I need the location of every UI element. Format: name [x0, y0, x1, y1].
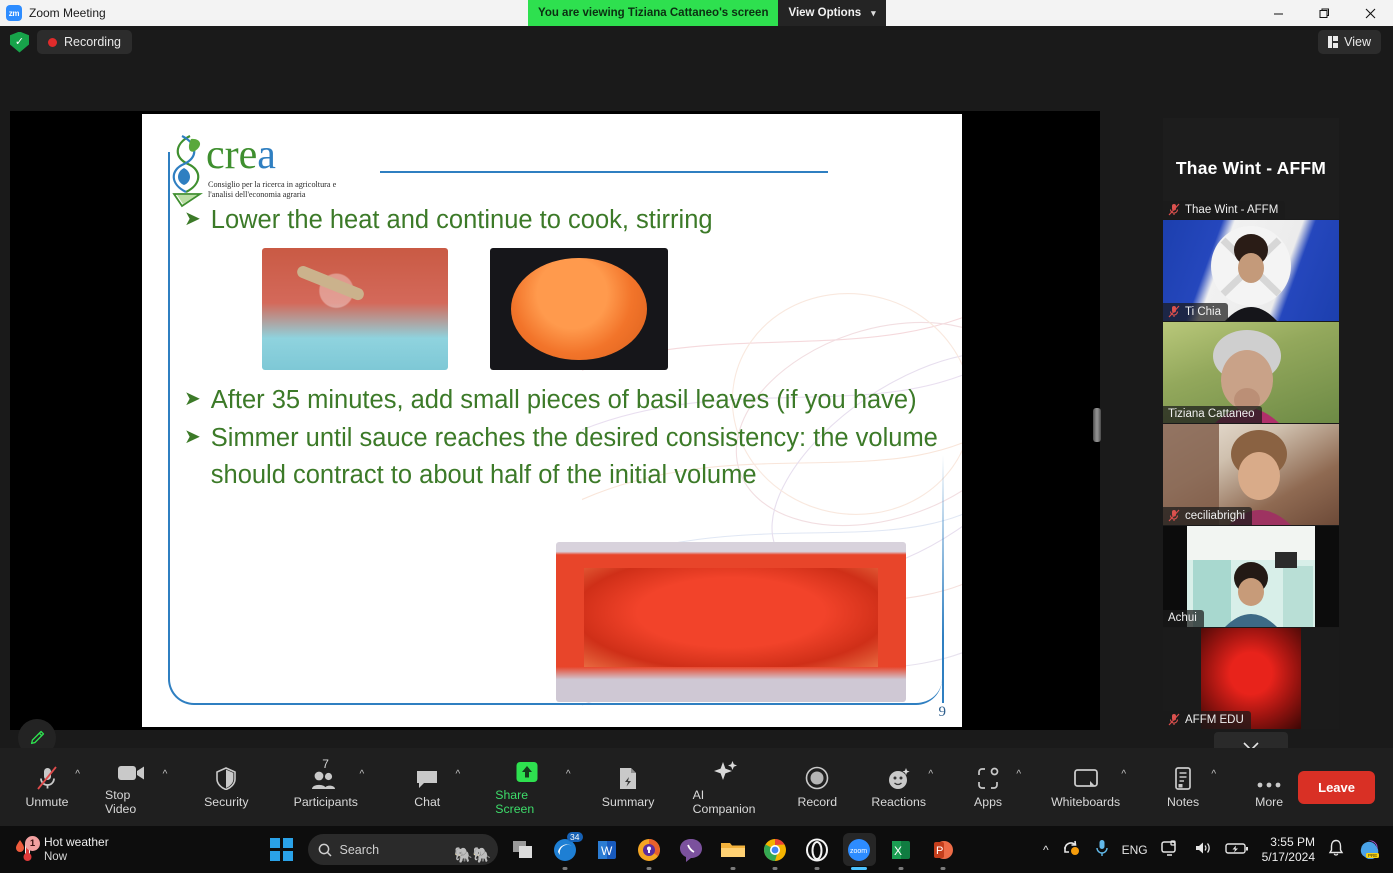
smiley-icon	[887, 766, 911, 790]
sync-status-icon[interactable]	[1062, 839, 1082, 860]
running-indicator	[647, 867, 652, 870]
security-button[interactable]: Security	[197, 757, 255, 817]
green-shield-check-icon[interactable]: ✓	[10, 32, 29, 53]
record-button[interactable]: Record	[788, 757, 846, 817]
security-label: Security	[204, 795, 248, 809]
participant-name-bar: Thae Wint - AFFM	[1163, 201, 1285, 219]
password-manager-icon[interactable]	[633, 833, 666, 866]
reactions-button[interactable]: Reactions ^	[868, 757, 929, 817]
layout-grid-icon	[1328, 36, 1339, 48]
search-placeholder: Search	[340, 843, 380, 857]
microphone-tray-icon[interactable]	[1095, 839, 1109, 860]
chevron-up-icon[interactable]: ^	[163, 769, 168, 780]
slide-bullet-3: ➤ Simmer until sauce reaches the desired…	[184, 420, 944, 492]
crea-subtitle: Consiglio per la ricerca in agricoltura …	[208, 180, 343, 201]
slide-bullet-1: ➤ Lower the heat and continue to cook, s…	[184, 202, 944, 238]
window-title: Zoom Meeting	[29, 6, 106, 20]
video-camera-icon	[117, 759, 145, 783]
chat-bubble-icon	[415, 766, 439, 790]
slide-image-row	[262, 248, 944, 370]
summary-button[interactable]: Summary	[599, 757, 658, 817]
microphone-muted-icon	[1168, 713, 1180, 726]
leave-button[interactable]: Leave	[1298, 771, 1375, 804]
share-resize-handle[interactable]	[1093, 408, 1101, 442]
svg-text:X: X	[894, 844, 902, 858]
participant-name-bar: Ti Chia	[1163, 303, 1228, 321]
bullet-text: Lower the heat and continue to cook, sti…	[211, 202, 944, 238]
bullet-text: Simmer until sauce reaches the desired c…	[211, 420, 944, 492]
notification-badge: 34	[567, 832, 582, 842]
crea-wordmark: crea	[206, 134, 276, 176]
opera-icon[interactable]	[801, 833, 834, 866]
running-indicator	[731, 867, 736, 870]
shield-icon	[216, 766, 236, 790]
participants-label: Participants	[294, 795, 358, 809]
weather-time: Now	[44, 850, 109, 864]
chrome-icon[interactable]	[759, 833, 792, 866]
running-indicator	[563, 867, 568, 870]
search-icon	[318, 843, 332, 857]
thermometer-icon: 1	[14, 837, 36, 863]
chevron-down-icon: ▾	[871, 8, 876, 19]
unmute-label: Unmute	[25, 795, 68, 809]
display-cast-icon[interactable]	[1161, 840, 1181, 860]
summary-label: Summary	[602, 795, 655, 809]
participants-button[interactable]: 7 Participants ^	[291, 757, 360, 817]
language-indicator[interactable]: ENG	[1122, 843, 1148, 857]
share-screen-label: Share Screen	[495, 788, 559, 816]
viewing-screen-label: You are viewing Tiziana Cattaneo's scree…	[528, 0, 778, 26]
participant-name-bar: Tiziana Cattaneo	[1163, 406, 1262, 423]
clock-date: 5/17/2024	[1262, 850, 1315, 864]
chevron-up-icon[interactable]: ^	[928, 769, 933, 780]
close-button[interactable]	[1347, 0, 1393, 26]
notes-button[interactable]: Notes ^	[1154, 757, 1212, 817]
view-options-button[interactable]: View Options ▾	[778, 0, 885, 26]
participant-name: Tiziana Cattaneo	[1168, 408, 1255, 420]
video-tile-achui[interactable]: Achui	[1163, 526, 1339, 627]
volume-icon[interactable]	[1194, 840, 1212, 859]
whiteboards-label: Whiteboards	[1051, 795, 1120, 809]
window-title-bar: zm Zoom Meeting You are viewing Tiziana …	[0, 0, 1393, 26]
running-indicator	[851, 867, 867, 870]
system-tray: ^ ENG	[1043, 835, 1393, 864]
stop-video-label: Stop Video	[105, 788, 156, 816]
viber-icon[interactable]	[675, 833, 708, 866]
record-dot-icon	[48, 38, 57, 47]
ai-companion-label: AI Companion	[693, 788, 760, 816]
svg-text:P: P	[936, 845, 943, 857]
participant-name: Thae Wint - AFFM	[1185, 204, 1278, 216]
whiteboard-icon	[1073, 766, 1099, 790]
microphone-muted-icon	[36, 766, 58, 790]
word-icon[interactable]: W	[591, 833, 624, 866]
people-icon: 7	[311, 766, 341, 790]
participant-big-name: Thae Wint - AFFM	[1176, 158, 1326, 179]
chevron-up-icon[interactable]: ^	[566, 769, 571, 780]
video-tile-tiziana-cattaneo[interactable]: Tiziana Cattaneo	[1163, 322, 1339, 423]
summary-doc-icon	[618, 766, 638, 790]
sparkle-icon	[713, 759, 739, 783]
svg-text:PRE: PRE	[1368, 853, 1377, 858]
participant-name: AFFM EDU	[1185, 714, 1244, 726]
ellipsis-icon	[1256, 766, 1282, 790]
weather-badge: 1	[25, 836, 40, 851]
chevron-up-icon[interactable]: ^	[360, 769, 365, 780]
meeting-status-bar: ✓ Recording View	[0, 26, 1393, 58]
windows-taskbar: 1 Hot weather Now Search 🐘🐘	[0, 826, 1393, 873]
participants-filmstrip: Thae Wint - AFFM Thae Wint - AFFM	[1163, 118, 1339, 761]
minimize-button[interactable]	[1255, 0, 1301, 26]
chevron-up-icon[interactable]: ^	[1211, 769, 1216, 780]
taskbar-center: Search 🐘🐘 34	[264, 832, 960, 867]
weather-widget[interactable]: 1 Hot weather Now	[0, 835, 260, 864]
pen-icon	[28, 729, 46, 747]
more-button[interactable]: More	[1240, 757, 1298, 817]
notification-bell-icon[interactable]	[1328, 839, 1344, 860]
zoom-icon[interactable]: zoom	[843, 833, 876, 866]
start-button[interactable]	[264, 832, 299, 867]
participant-name: ceciliabrighi	[1185, 510, 1245, 522]
running-indicator	[941, 867, 946, 870]
title-bar-left: zm Zoom Meeting	[0, 5, 106, 21]
view-layout-button[interactable]: View	[1318, 30, 1381, 54]
shared-slide: crea Consiglio per la ricerca in agricol…	[142, 114, 962, 727]
crea-logo-mark-icon	[164, 132, 208, 208]
chevron-up-icon[interactable]: ^	[1121, 769, 1126, 780]
view-options-label: View Options	[788, 7, 861, 19]
stop-video-button[interactable]: Stop Video ^	[98, 757, 163, 817]
microphone-muted-icon	[1168, 203, 1180, 216]
zoom-logo-icon: zm	[6, 5, 22, 21]
meeting-toolbar: Unmute ^ Stop Video ^ Security	[0, 748, 1393, 826]
task-view-icon[interactable]	[507, 833, 540, 866]
notes-label: Notes	[1167, 795, 1199, 809]
recording-label: Recording	[64, 35, 121, 49]
tomato-puree-pot-photo	[490, 248, 668, 370]
slide-bullet-list: ➤ Lower the heat and continue to cook, s…	[184, 202, 944, 495]
chevron-up-icon[interactable]: ^	[456, 769, 461, 780]
record-circle-icon	[805, 766, 829, 790]
powerpoint-icon[interactable]: P	[927, 833, 960, 866]
bullet-arrow-icon: ➤	[184, 382, 201, 418]
more-label: More	[1255, 795, 1283, 809]
search-input[interactable]: Search 🐘🐘	[308, 834, 498, 865]
copilot-icon[interactable]: PRE	[1357, 837, 1381, 862]
slide-page-number: 9	[939, 704, 947, 721]
participants-count: 7	[322, 757, 329, 771]
tomato-sauce-pan-photo	[262, 248, 448, 370]
running-indicator	[899, 867, 904, 870]
unmute-button[interactable]: Unmute ^	[18, 757, 76, 817]
clock-time: 3:55 PM	[1270, 835, 1315, 849]
battery-charging-icon[interactable]	[1225, 841, 1249, 858]
video-tile-ceciliabrighi[interactable]: ceciliabrighi	[1163, 424, 1339, 525]
weather-text: Hot weather Now	[44, 835, 109, 864]
window-controls	[1255, 0, 1393, 26]
screen-share-banner: You are viewing Tiziana Cattaneo's scree…	[528, 0, 886, 26]
apps-button[interactable]: Apps ^	[959, 757, 1017, 817]
svg-text:W: W	[601, 844, 613, 858]
chevron-up-icon[interactable]: ^	[75, 769, 80, 780]
reactions-label: Reactions	[871, 795, 926, 809]
tray-expand-chevron-icon[interactable]: ^	[1043, 843, 1049, 857]
microphone-muted-icon	[1168, 305, 1180, 318]
microphone-muted-icon	[1168, 509, 1180, 522]
participant-name: Ti Chia	[1185, 306, 1221, 318]
elephants-image: 🐘🐘	[454, 846, 491, 864]
record-label: Record	[797, 795, 837, 809]
chat-button[interactable]: Chat ^	[398, 757, 456, 817]
bullet-arrow-icon: ➤	[184, 202, 201, 238]
participant-name-bar: Achui	[1163, 610, 1204, 627]
zoom-meeting-window: zm Zoom Meeting You are viewing Tiziana …	[0, 0, 1393, 873]
red-sauce-bowl-photo	[556, 542, 906, 702]
slide-header-rule	[380, 171, 828, 173]
slide-bullet-2: ➤ After 35 minutes, add small pieces of …	[184, 382, 944, 418]
bullet-arrow-icon: ➤	[184, 420, 201, 492]
excel-icon[interactable]: X	[885, 833, 918, 866]
shared-screen-stage: crea Consiglio per la ricerca in agricol…	[10, 111, 1100, 730]
video-tile-ti-chia[interactable]: Ti Chia	[1163, 220, 1339, 321]
weather-title: Hot weather	[44, 835, 109, 849]
edge-copilot-icon[interactable]: 34	[549, 833, 582, 866]
participant-name-bar: ceciliabrighi	[1163, 507, 1252, 525]
running-indicator	[773, 867, 778, 870]
notes-icon	[1173, 766, 1193, 790]
clock[interactable]: 3:55 PM 5/17/2024	[1262, 835, 1315, 864]
recording-indicator[interactable]: Recording	[37, 30, 132, 54]
apps-label: Apps	[974, 795, 1002, 809]
ai-companion-button[interactable]: AI Companion	[686, 757, 767, 817]
share-screen-button[interactable]: Share Screen ^	[488, 757, 566, 817]
participant-name-bar: AFFM EDU	[1163, 711, 1251, 729]
crea-logo: crea Consiglio per la ricerca in agricol…	[164, 130, 339, 208]
participant-name: Achui	[1168, 612, 1197, 624]
svg-text:zoom: zoom	[850, 848, 867, 855]
maximize-restore-button[interactable]	[1301, 0, 1347, 26]
whiteboards-button[interactable]: Whiteboards ^	[1049, 757, 1122, 817]
share-screen-icon	[515, 759, 539, 783]
chat-label: Chat	[414, 795, 440, 809]
file-explorer-icon[interactable]	[717, 833, 750, 866]
chevron-up-icon[interactable]: ^	[1016, 769, 1021, 780]
apps-icon	[976, 766, 1000, 790]
bullet-text: After 35 minutes, add small pieces of ba…	[211, 382, 944, 418]
video-tile-thae-wint-affm[interactable]: Thae Wint - AFFM Thae Wint - AFFM	[1163, 118, 1339, 219]
video-tile-affm-edu[interactable]: AFFM EDU	[1163, 628, 1339, 729]
view-label: View	[1344, 35, 1371, 49]
running-indicator	[815, 867, 820, 870]
